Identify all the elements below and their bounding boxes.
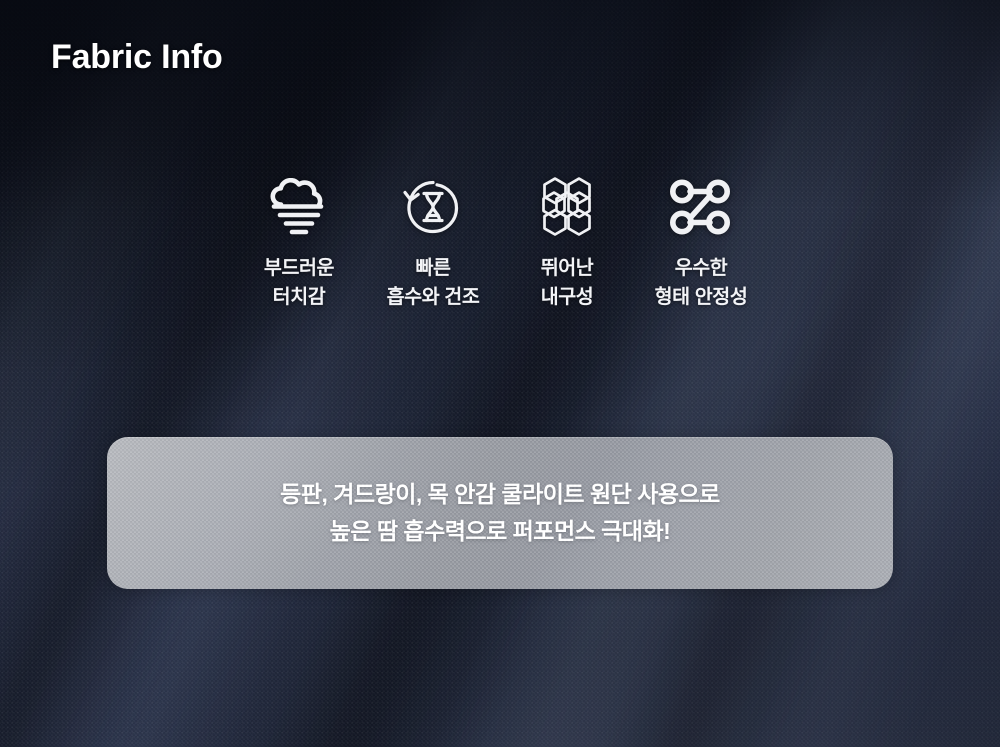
feature-item-shape-stability: 우수한 형태 안정성 [634,176,768,311]
feature-label: 우수한 형태 안정성 [655,254,748,311]
caption-panel: 등판, 겨드랑이, 목 안감 쿨라이트 원단 사용으로 높은 땀 흡수력으로 퍼… [107,437,893,589]
fabric-info-banner: Fabric Info 부드러운 터치감 [0,0,1000,747]
feature-item-soft-touch: 부드러운 터치감 [232,176,366,311]
feature-label: 부드러운 터치감 [264,254,334,311]
feature-item-fast-dry: 빠른 흡수와 건조 [366,176,500,311]
caption-text: 등판, 겨드랑이, 목 안감 쿨라이트 원단 사용으로 높은 땀 흡수력으로 퍼… [280,476,720,551]
honeycomb-icon [536,176,598,238]
fabric-vignette-overlay [0,0,1000,747]
page-title: Fabric Info [51,38,223,77]
feature-label: 빠른 흡수와 건조 [387,254,480,311]
feature-list: 부드러운 터치감 빠른 흡수 [232,176,768,311]
feature-item-durability: 뛰어난 내구성 [500,176,634,311]
cloud-fog-icon [267,176,331,238]
hourglass-cycle-icon [403,176,463,238]
feature-label: 뛰어난 내구성 [541,254,594,311]
node-network-icon [670,176,732,238]
